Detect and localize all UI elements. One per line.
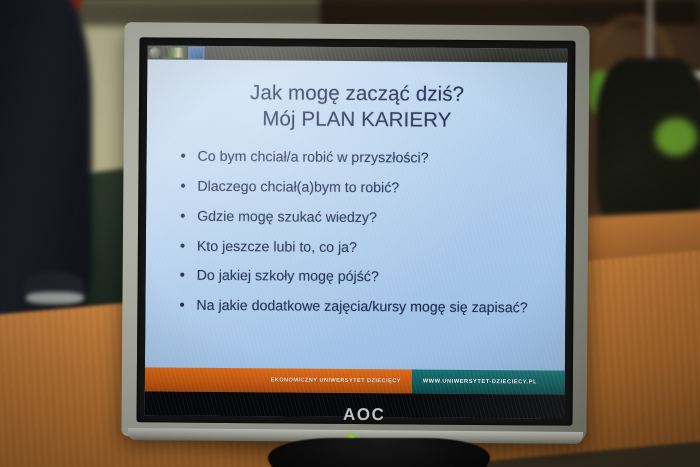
person-shoe-sole	[26, 292, 84, 304]
image-thumbnail-icon[interactable]	[163, 46, 185, 58]
list-item: Kto jeszcze lubi to, co ja?	[180, 237, 544, 258]
start-orb-icon[interactable]	[149, 47, 160, 58]
ceiling-shadow-band	[0, 0, 700, 26]
footer-brand-text: EKONOMICZNY UNIWERSYTET DZIECIĘCY	[271, 377, 401, 384]
monitor-display-panel: Jak mogę zacząć dziś? Mój PLAN KARIERY C…	[145, 45, 568, 418]
window-icon[interactable]	[188, 46, 204, 59]
monitor-brand-logo: AOC	[343, 405, 385, 425]
chair-post	[646, 0, 654, 64]
slide-content: Jak mogę zacząć dziś? Mój PLAN KARIERY C…	[145, 59, 567, 370]
list-item: Co bym chciał/a robić w przyszłości?	[181, 147, 545, 168]
slide-title-line-2: Mój PLAN KARIERY	[163, 105, 551, 134]
slide-title: Jak mogę zacząć dziś? Mój PLAN KARIERY	[163, 79, 551, 134]
slide-footer-banner: EKONOMICZNY UNIWERSYTET DZIECIĘCY WWW.UN…	[145, 367, 565, 394]
backpack-green-accent-right	[655, 118, 697, 156]
slide-title-line-1: Jak mogę zacząć dziś?	[250, 81, 464, 106]
list-item: Na jakie dodatkowe zajęcia/kursy mogę si…	[179, 297, 543, 318]
monitor-stand-base	[268, 438, 490, 467]
footer-brand-band: EKONOMICZNY UNIWERSYTET DZIECIĘCY	[145, 367, 412, 393]
footer-url-band: WWW.UNIWERSYTET-DZIECIECY.PL	[412, 369, 565, 394]
footer-url-text: WWW.UNIWERSYTET-DZIECIECY.PL	[423, 379, 537, 386]
slide-bullet-list: Co bym chciał/a robić w przyszłości? Dla…	[161, 147, 550, 318]
list-item: Do jakiej szkoły mogę pójść?	[180, 267, 544, 288]
list-item: Dlaczego chciał(a)bym to robić?	[180, 177, 544, 198]
presentation-slide: Jak mogę zacząć dziś? Mój PLAN KARIERY C…	[145, 45, 568, 418]
list-item: Gdzie mogę szukać wiedzy?	[180, 207, 544, 228]
photo-scene: Jak mogę zacząć dziś? Mój PLAN KARIERY C…	[0, 0, 700, 467]
